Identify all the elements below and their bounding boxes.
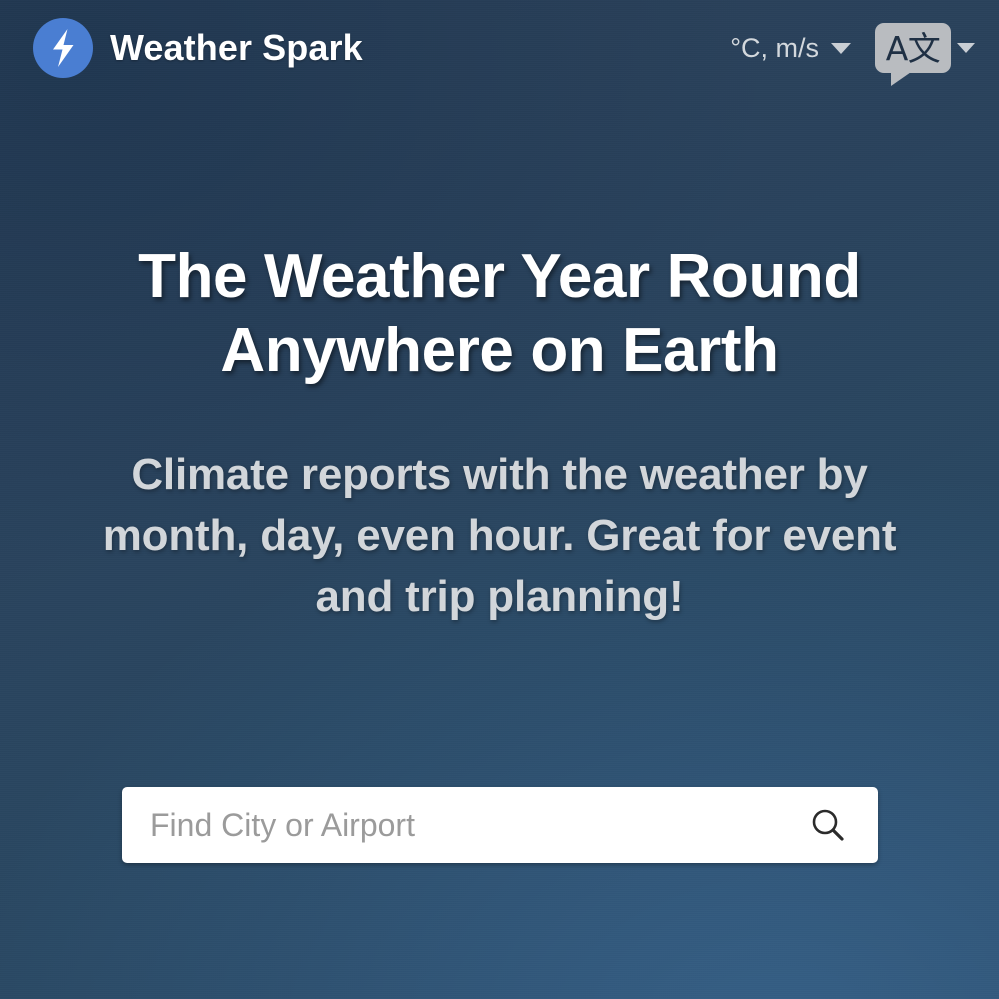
headline-line-2: Anywhere on Earth bbox=[220, 316, 778, 385]
headline-line-1: The Weather Year Round bbox=[138, 242, 861, 311]
chevron-down-icon bbox=[831, 43, 851, 54]
chevron-down-icon bbox=[957, 43, 975, 53]
site-header: Weather Spark °C, m/s A文 bbox=[0, 0, 999, 96]
units-selector[interactable]: °C, m/s bbox=[728, 29, 853, 68]
search-box[interactable] bbox=[122, 787, 878, 863]
translate-icon-glyphs: A文 bbox=[886, 32, 941, 65]
brand-name: Weather Spark bbox=[110, 27, 363, 69]
hero-section: The Weather Year Round Anywhere on Earth… bbox=[0, 240, 999, 627]
brand-home-link[interactable]: Weather Spark bbox=[33, 18, 363, 78]
units-label: °C, m/s bbox=[730, 33, 819, 64]
weather-spark-landing-page: Weather Spark °C, m/s A文 The Weather Yea… bbox=[0, 0, 999, 999]
page-title: The Weather Year Round Anywhere on Earth bbox=[28, 240, 971, 388]
header-controls: °C, m/s A文 bbox=[728, 23, 975, 73]
search-button[interactable] bbox=[802, 799, 854, 851]
language-selector[interactable]: A文 bbox=[875, 23, 975, 73]
search-input[interactable] bbox=[150, 787, 802, 863]
search-icon bbox=[809, 806, 847, 844]
search-section bbox=[122, 787, 878, 863]
translate-speech-bubble-icon: A文 bbox=[875, 23, 951, 73]
hero-subheadline: Climate reports with the weather by mont… bbox=[28, 444, 971, 627]
lightning-bolt-icon bbox=[33, 18, 93, 78]
